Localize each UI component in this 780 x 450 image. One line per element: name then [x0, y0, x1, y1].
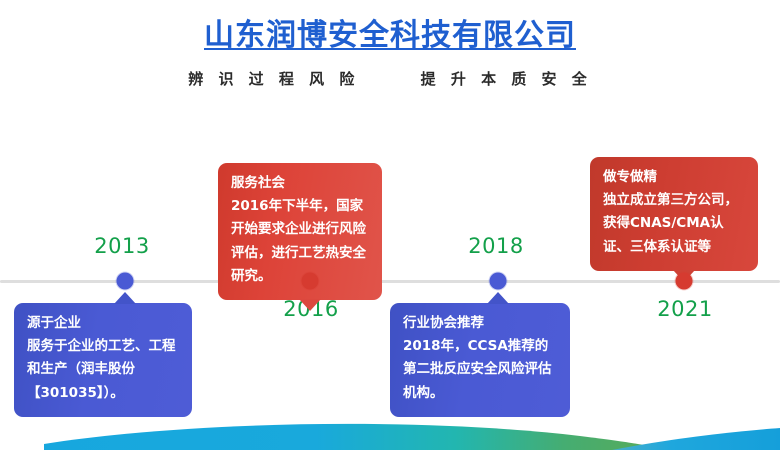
- card-title-2018: 行业协会推荐: [403, 313, 557, 333]
- timeline-card-2013[interactable]: 源于企业 服务于企业的工艺、工程和生产（润丰股份【301035】）。: [14, 303, 192, 417]
- wave-pale-green-shape: [52, 429, 600, 450]
- card-body-2013: 服务于企业的工艺、工程和生产（润丰股份【301035】）。: [27, 335, 179, 405]
- card-body-2018: 2018年，CCSA推荐的第二批反应安全风险评估机构。: [403, 335, 557, 405]
- year-label-2013: 2013: [94, 234, 149, 258]
- timeline-card-2021[interactable]: 做专做精 独立成立第三方公司，获得CNAS/CMA认证、三体系认证等: [590, 157, 758, 271]
- company-slogan: 辨 识 过 程 风 险 提 升 本 质 安 全: [0, 55, 780, 89]
- timeline-dot-2021[interactable]: [676, 273, 693, 290]
- card-body-2021: 独立成立第三方公司，获得CNAS/CMA认证、三体系认证等: [603, 189, 745, 259]
- company-title: 山东润博安全科技有限公司: [0, 0, 780, 55]
- timeline-card-2018[interactable]: 行业协会推荐 2018年，CCSA推荐的第二批反应安全风险评估机构。: [390, 303, 570, 417]
- timeline-infographic: 山东润博安全科技有限公司 辨 识 过 程 风 险 提 升 本 质 安 全 201…: [0, 0, 780, 450]
- timeline-dot-2016[interactable]: [302, 273, 319, 290]
- card-title-2021: 做专做精: [603, 167, 745, 187]
- header: 山东润博安全科技有限公司 辨 识 过 程 风 险 提 升 本 质 安 全: [0, 0, 780, 89]
- year-label-2018: 2018: [468, 234, 523, 258]
- timeline-dot-2018[interactable]: [490, 273, 507, 290]
- wave-right-shape: [612, 428, 780, 450]
- card-title-2013: 源于企业: [27, 313, 179, 333]
- card-title-2016: 服务社会: [231, 173, 369, 193]
- wave-main-shape: [44, 424, 648, 450]
- timeline-card-2016[interactable]: 服务社会 2016年下半年，国家开始要求企业进行风险评估，进行工艺热安全研究。: [218, 163, 382, 300]
- timeline-dot-2013[interactable]: [117, 273, 134, 290]
- card-body-2016: 2016年下半年，国家开始要求企业进行风险评估，进行工艺热安全研究。: [231, 195, 369, 288]
- card-pointer-icon: [299, 299, 321, 311]
- card-pointer-icon: [487, 292, 509, 304]
- year-label-2021: 2021: [657, 297, 712, 321]
- card-pointer-icon: [114, 292, 136, 304]
